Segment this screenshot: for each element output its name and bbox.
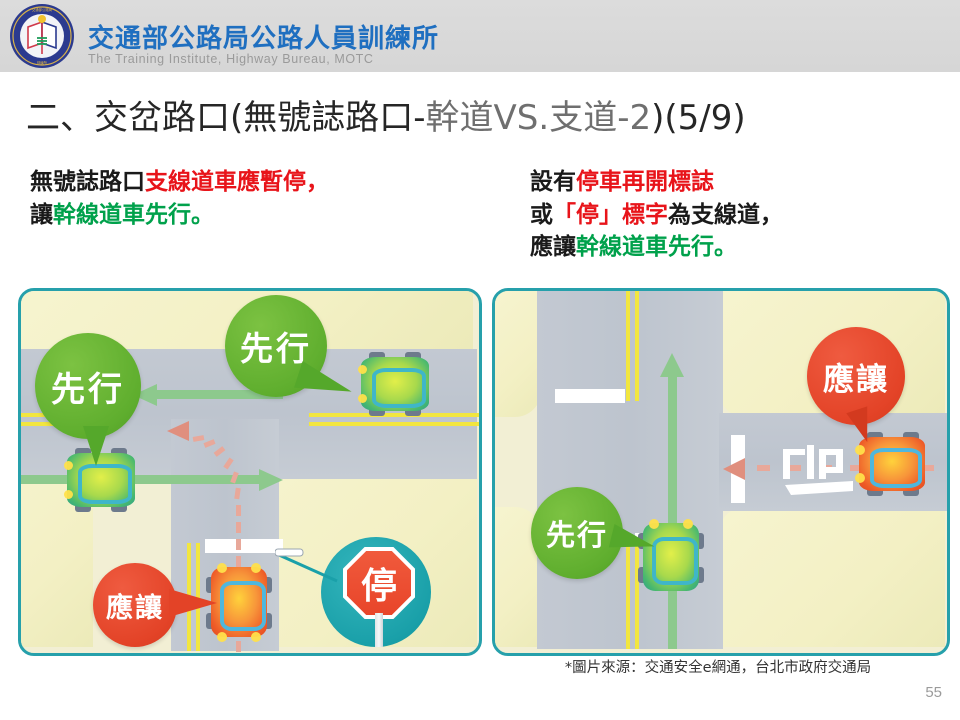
training-institute-emblem-icon: 交通部公路局 訓練所 (8, 2, 76, 70)
scene-right: 應讓 先行 (495, 291, 947, 653)
center-line-yellow (635, 291, 639, 401)
bubble-go-first-bottom: 先行 (531, 487, 623, 579)
stop-sign-post (375, 613, 383, 647)
center-line-yellow (626, 537, 630, 649)
arrow-eastbound-body (21, 475, 261, 484)
page-title: 二、交岔路口(無號誌路口-幹道VS.支道-2)(5/9) (26, 90, 746, 139)
car-main-road-east (361, 357, 429, 411)
stop-bar-marking (205, 539, 283, 553)
lead-right-line3: 應讓幹線道車先行。 (530, 231, 950, 264)
bubble-tail-yield (169, 589, 217, 617)
lead-right-line3-green: 幹線道車先行。 (576, 234, 737, 260)
land-bottom-right (719, 507, 945, 647)
institute-title: 交通部公路局公路人員訓練所 (88, 18, 439, 55)
lead-left-line2-black: 讓 (30, 202, 53, 228)
lead-right-line2-black-a: 或 (530, 202, 553, 228)
page-title-tail: )(5/9) (651, 98, 746, 138)
lead-right-line1-black: 設有 (530, 169, 576, 195)
bubble-must-yield-label: 應讓 (106, 586, 164, 625)
page-number: 55 (925, 684, 942, 701)
lead-left-line2: 讓幹線道車先行。 (30, 199, 480, 232)
lead-left-line1-red: 支線道車應暫停， (145, 169, 329, 195)
app-header: 交通部公路局 訓練所 交通部公路局公路人員訓練所 The Training In… (0, 0, 960, 72)
lead-right-line2-red: 「停」標字 (553, 202, 668, 228)
road-marking-stop (781, 441, 861, 503)
stop-sign-pointer (275, 547, 355, 595)
bubble-go-first-bottom-label: 先行 (546, 512, 608, 554)
scene-left: 先行 先行 應讓 停 (21, 291, 479, 653)
page-title-main: 二、交岔路口(無號誌路口- (26, 98, 426, 138)
svg-text:訓練所: 訓練所 (37, 60, 48, 65)
center-line-yellow (309, 422, 479, 426)
center-line-yellow (309, 413, 479, 417)
lead-text-left: 無號誌路口支線道車應暫停， 讓幹線道車先行。 (30, 166, 480, 231)
land-top-left (495, 291, 541, 417)
bubble-go-first-left: 先行 (35, 333, 141, 439)
svg-text:交通部公路局: 交通部公路局 (32, 7, 53, 12)
lead-left-line1: 無號誌路口支線道車應暫停， (30, 166, 480, 199)
lead-right-line2-black-b: 為支線道， (668, 202, 783, 228)
illustration-stop-sign-side-road: 應讓 先行 (492, 288, 950, 656)
main-road-vertical (537, 291, 723, 649)
turn-arrow-head (167, 421, 189, 441)
bubble-go-first-left-label: 先行 (51, 362, 125, 411)
bubble-must-yield-right-label: 應讓 (823, 354, 889, 399)
page-title-emphasis: 幹道VS.支道-2 (426, 98, 652, 138)
lead-text-right: 設有停車再開標誌 或「停」標字為支線道， 應讓幹線道車先行。 (530, 166, 950, 264)
arrow-eastbound-head (259, 469, 283, 491)
side-road-arrow-head (723, 458, 745, 480)
arrow-northbound-body (668, 373, 677, 649)
edge-marking-top (555, 389, 625, 403)
lead-right-line1-red: 停車再開標誌 (576, 169, 714, 195)
bubble-tail-left (83, 426, 109, 466)
lead-right-line1: 設有停車再開標誌 (530, 166, 950, 199)
car-side-road-west (859, 437, 925, 491)
institute-subtitle: The Training Institute, Highway Bureau, … (88, 52, 374, 66)
stop-sign-label: 停 (361, 557, 397, 609)
lead-right-line2: 或「停」標字為支線道， (530, 199, 950, 232)
lead-right-line3-black: 應讓 (530, 234, 576, 260)
source-note: *圖片來源：交通安全e網通，台北市政府交通局 (492, 656, 944, 677)
lead-left-line1-black: 無號誌路口 (30, 169, 145, 195)
lead-left-line2-green: 幹線道車先行。 (53, 202, 214, 228)
bubble-must-yield: 應讓 (93, 563, 177, 647)
arrow-northbound-head (660, 353, 684, 377)
car-side-road-south (211, 567, 267, 637)
illustration-unsignalized-intersection: 先行 先行 應讓 停 (18, 288, 482, 656)
center-line-yellow (626, 291, 630, 401)
